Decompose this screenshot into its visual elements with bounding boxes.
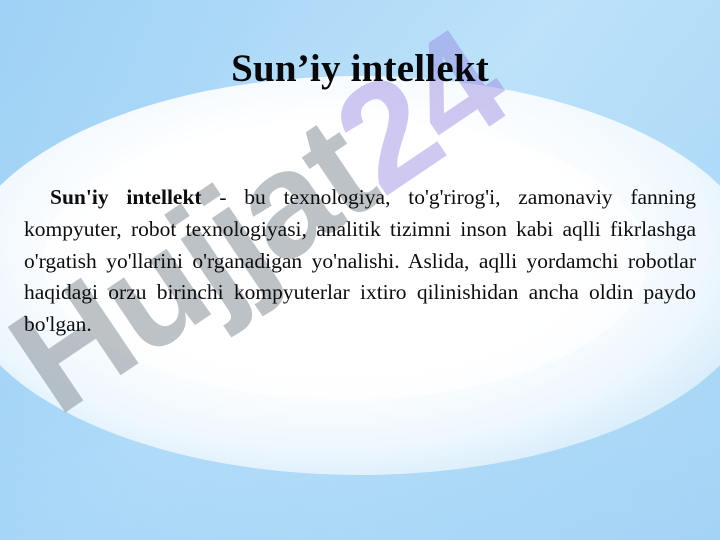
slide-body-text: Sun'iy intellekt - bu texnologiya, to'g'… [24,182,696,341]
slide-title: Sun’iy intellekt [0,48,720,91]
presentation-slide: Hujjat24 Sun’iy intellekt Sun'iy intelle… [0,0,720,540]
body-paragraph: Sun'iy intellekt - bu texnologiya, to'g'… [24,182,696,341]
body-lead-term: Sun'iy intellekt [50,185,202,209]
